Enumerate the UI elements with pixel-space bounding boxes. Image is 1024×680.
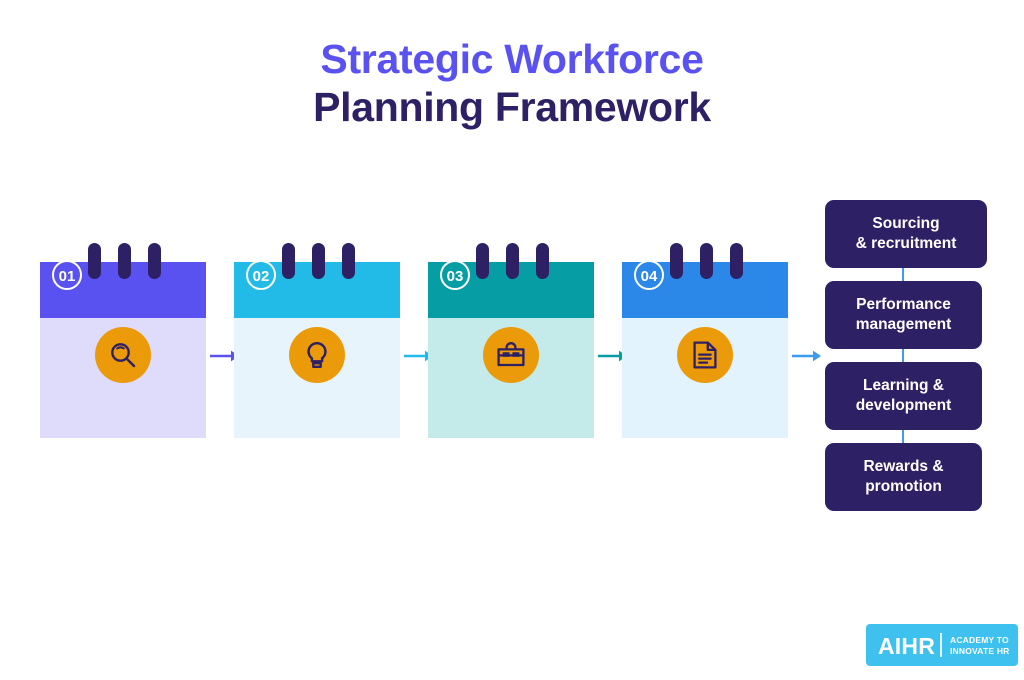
step-number-badge: 01 [52, 260, 82, 290]
step-number-badge: 02 [246, 260, 276, 290]
outcome-box-label: Rewards &promotion [863, 457, 943, 496]
logo-wordmark: AIHR [878, 633, 935, 660]
title-line-2: Planning Framework [0, 84, 1024, 132]
outcome-box-label: Learning &development [856, 376, 952, 415]
flow-arrow-4 [792, 349, 822, 363]
binder-rings-icon [670, 243, 750, 279]
infographic-canvas: Strategic Workforce Planning Framework 0… [0, 0, 1024, 680]
outcome-box-label: Sourcing& recruitment [856, 214, 957, 253]
lightbulb-icon [289, 327, 345, 383]
step-number-badge: 04 [634, 260, 664, 290]
title-line-1: Strategic Workforce [0, 36, 1024, 84]
logo-tagline-line-2: INNOVATE HR [950, 646, 1010, 657]
outcome-box-1[interactable]: Sourcing& recruitment [825, 200, 987, 268]
outcome-connector-1 [902, 268, 904, 281]
briefcase-icon [483, 327, 539, 383]
outcome-box-4[interactable]: Rewards &promotion [825, 443, 982, 511]
binder-rings-icon [88, 243, 168, 279]
page-title: Strategic Workforce Planning Framework [0, 36, 1024, 131]
magnifier-icon [95, 327, 151, 383]
step-number-badge: 03 [440, 260, 470, 290]
outcome-box-label: Performancemanagement [856, 295, 952, 334]
logo-divider [940, 633, 942, 657]
document-icon [677, 327, 733, 383]
outcome-connector-3 [902, 430, 904, 443]
outcome-box-3[interactable]: Learning &development [825, 362, 982, 430]
binder-rings-icon [282, 243, 362, 279]
binder-rings-icon [476, 243, 556, 279]
aihr-logo: AIHR ACADEMY TO INNOVATE HR [866, 624, 1018, 666]
outcome-box-2[interactable]: Performancemanagement [825, 281, 982, 349]
outcome-connector-2 [902, 349, 904, 362]
logo-tagline: ACADEMY TO INNOVATE HR [950, 635, 1010, 657]
logo-tagline-line-1: ACADEMY TO [950, 635, 1010, 646]
